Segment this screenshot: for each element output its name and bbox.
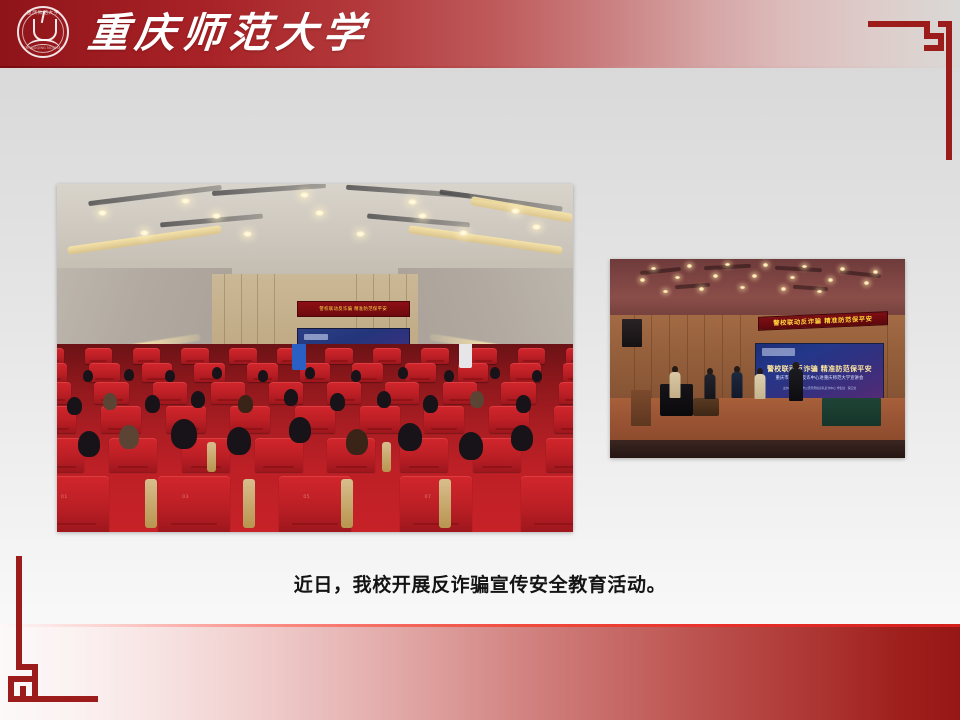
stage-table xyxy=(822,398,881,426)
slide-caption: 近日，我校开展反诈骗宣传安全教育活动。 xyxy=(0,570,960,600)
hall-audience-seating: 01 03 05 07 xyxy=(57,344,573,532)
stage-screen-subtitle: 重庆市公安局反诈中心进重庆师范大学宣讲会 xyxy=(763,375,875,381)
stage-line-array-speaker xyxy=(622,319,643,347)
seat-number-label: 07 xyxy=(425,495,432,500)
stage-front-row-silhouette xyxy=(610,440,905,458)
stage-led-banner-text: 警校联动反诈骗 精准防范保平安 xyxy=(773,314,872,327)
standing-staff-person xyxy=(459,344,472,368)
bottom-left-meander-ornament-icon xyxy=(8,556,108,706)
seat-number-label: 05 xyxy=(303,495,310,500)
seat-number-label: 03 xyxy=(182,495,189,500)
auditorium-wide-photo: 警校联动反诈骗 精准防范保平安 警校联动反诈骗 精准防范保平安 重庆市公安局反诈… xyxy=(57,184,573,532)
slide-canvas: 重庆师范大学 CHONGQING NORMAL UNIVERSITY 重庆师范大… xyxy=(0,0,960,720)
stage-screen-note: 主办单位：重庆市公安局刑侦总队反诈中心 学生处 · 保卫处 xyxy=(768,386,870,390)
header-band: 重庆师范大学 CHONGQING NORMAL UNIVERSITY 重庆师范大… xyxy=(0,0,960,68)
standing-staff-person xyxy=(292,344,306,370)
top-right-meander-ornament-icon xyxy=(868,10,952,170)
university-seal-icon: 重庆师范大学 CHONGQING NORMAL UNIVERSITY xyxy=(17,6,73,62)
stage-closeup-photo: 警校联动反诈骗 精准防范保平安 警校联动反诈骗 精准防范保平安 重庆市公安局反诈… xyxy=(610,259,905,458)
hall-led-banner-text: 警校联动反诈骗 精准防范保平安 xyxy=(320,305,388,311)
footer-gradient-band xyxy=(0,624,960,720)
stage-screen-logo-icon xyxy=(762,348,795,355)
hall-screen-logo-icon xyxy=(304,334,329,340)
seal-bottom-text: CHONGQING NORMAL UNIVERSITY xyxy=(23,46,63,50)
stage-screen-title: 警校联动反诈骗 精准防范保平安 xyxy=(761,364,879,374)
footer-accent-line xyxy=(0,624,960,627)
hall-led-banner: 警校联动反诈骗 精准防范保平安 xyxy=(297,301,411,317)
seal-flame-mark xyxy=(33,19,57,41)
stage-podium xyxy=(631,390,652,426)
university-name-title: 重庆师范大学 xyxy=(85,3,373,63)
seat-number-label: 01 xyxy=(61,495,68,500)
stage-bench xyxy=(693,398,720,416)
